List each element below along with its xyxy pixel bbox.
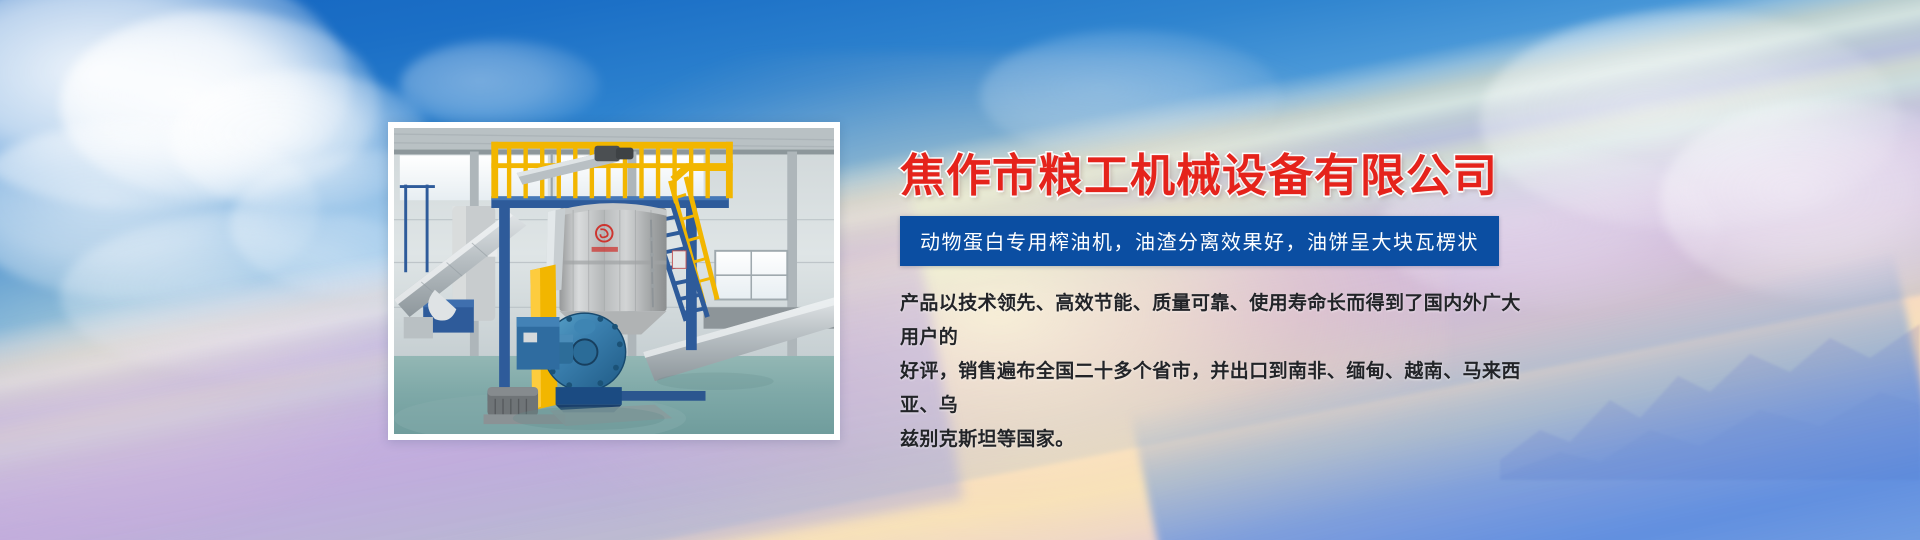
banner-copy: 焦作市粮工机械设备有限公司 动物蛋白专用榨油机，油渣分离效果好，油饼呈大块瓦楞状…	[900, 150, 1620, 456]
promo-banner: 焦作市粮工机械设备有限公司 动物蛋白专用榨油机，油渣分离效果好，油饼呈大块瓦楞状…	[0, 0, 1920, 540]
description-text: 产品以技术领先、高效节能、质量可靠、使用寿命长而得到了国内外广大用户的 好评，销…	[900, 286, 1540, 456]
description-line-2: 好评，销售遍布全国二十多个省市，并出口到南非、缅甸、越南、马来西亚、乌	[900, 354, 1540, 422]
product-photo	[394, 128, 834, 434]
product-photo-frame	[388, 122, 840, 440]
description-line-1: 产品以技术领先、高效节能、质量可靠、使用寿命长而得到了国内外广大用户的	[900, 286, 1540, 354]
tagline-bar: 动物蛋白专用榨油机，油渣分离效果好，油饼呈大块瓦楞状	[900, 216, 1499, 266]
factory-equipment-illustration	[394, 128, 834, 434]
company-title: 焦作市粮工机械设备有限公司	[900, 150, 1620, 202]
description-line-3: 兹别克斯坦等国家。	[900, 422, 1540, 456]
